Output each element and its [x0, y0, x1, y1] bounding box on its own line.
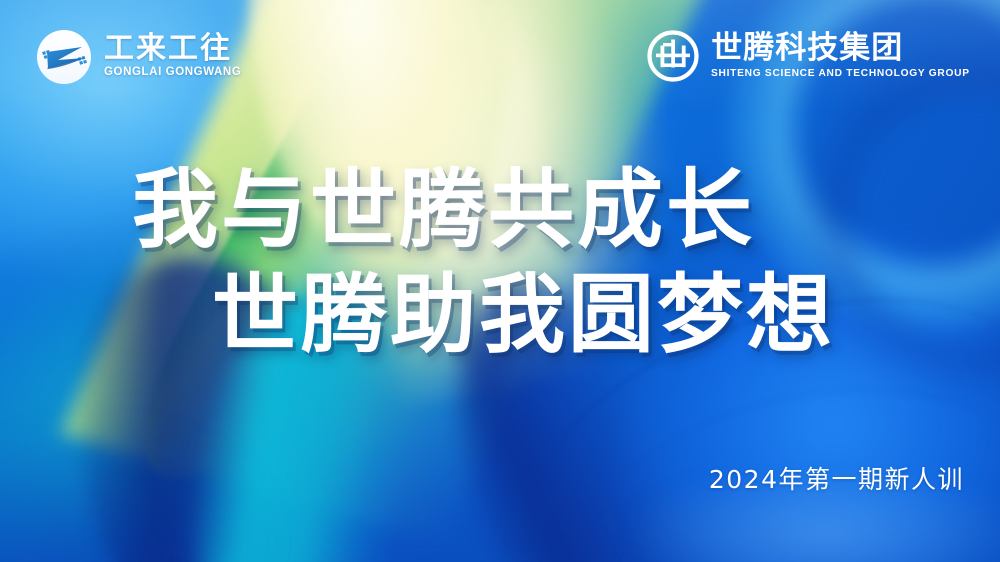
shiteng-circle-shi-icon: [645, 28, 701, 84]
title-slide: 工来工往 GONGLAI GONGWANG 世腾科技集团 SHITENG SCI…: [0, 0, 1000, 562]
brand-right-text: 世腾科技集团 SHITENG SCIENCE AND TECHNOLOGY GR…: [711, 33, 978, 79]
title-line-1: 我与世腾共成长: [132, 168, 1000, 253]
brand-left-name-en: GONGLAI GONGWANG: [104, 67, 241, 79]
brand-left-text: 工来工往 GONGLAI GONGWANG: [104, 34, 241, 81]
brand-logo-left: 工来工往 GONGLAI GONGWANG: [34, 27, 241, 87]
brand-logo-right: 世腾科技集团 SHITENG SCIENCE AND TECHNOLOGY GR…: [645, 28, 978, 84]
gonglai-circle-swoosh-icon: [34, 27, 94, 87]
slide-title: 我与世腾共成长 世腾助我圆梦想: [0, 168, 1000, 358]
slide-subtitle: 2024年第一期新人训: [709, 460, 964, 496]
brand-right-name-cn: 世腾科技集团: [711, 33, 978, 64]
title-line-2: 世腾助我圆梦想: [212, 273, 1000, 358]
brand-right-name-en: SHITENG SCIENCE AND TECHNOLOGY GROUP: [711, 68, 970, 79]
brand-left-name-cn: 工来工往: [104, 34, 241, 64]
bg-vignette-bottomleft: [0, 382, 300, 562]
